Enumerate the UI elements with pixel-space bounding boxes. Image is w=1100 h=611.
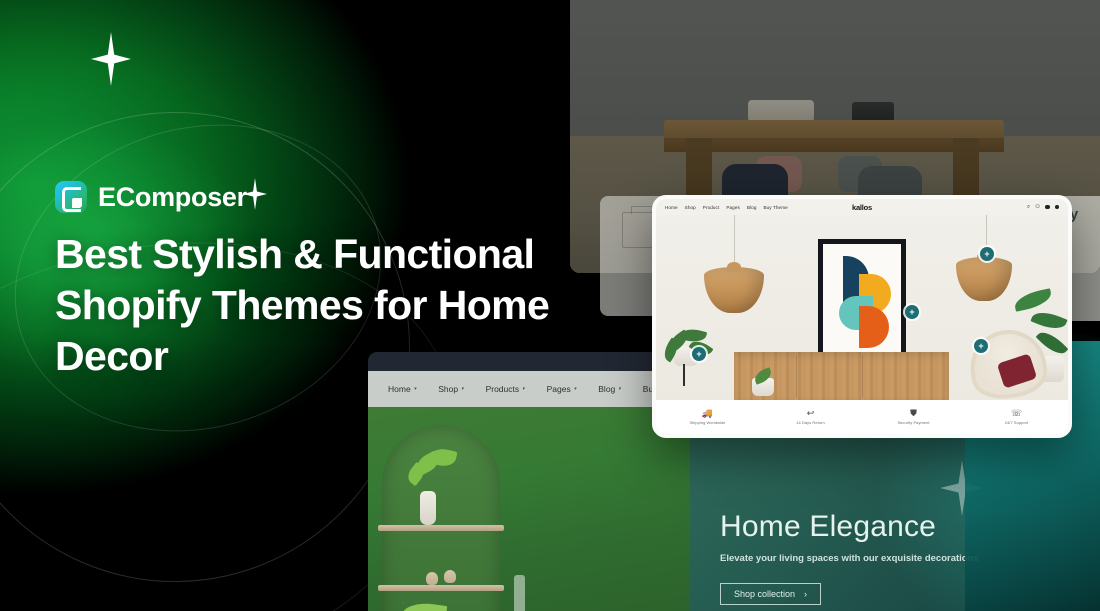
kallos-nav: Home Shop Product Pages Blog Buy Theme — [665, 205, 788, 210]
brand-lockup: EComposer — [55, 181, 247, 213]
nav-item-shop[interactable]: Shop — [685, 205, 696, 210]
cart-icon[interactable] — [1055, 205, 1060, 210]
ecomposer-logo-icon — [55, 181, 87, 213]
shield-icon: ⛊ — [910, 409, 917, 418]
shelf-lower — [378, 585, 504, 591]
brand-name: EComposer — [98, 182, 247, 213]
truck-icon: 🚚 — [702, 409, 713, 418]
plant-stand — [683, 364, 685, 386]
feature-shipping: 🚚 Shipping Worldwide — [656, 409, 759, 425]
nav-item-product[interactable]: Product — [703, 205, 720, 210]
nav-label: Products — [486, 384, 520, 394]
chevron-down-icon: ▾ — [461, 386, 464, 392]
art-canvas — [823, 244, 901, 352]
feature-label: 14 Days Return — [796, 420, 824, 425]
nav-label: Blog — [598, 384, 615, 394]
promo-banner: ty Pay r secur chevron-left-icon The Hom… — [0, 0, 1100, 611]
pendant-lamp-left — [704, 267, 764, 313]
feature-label: 24/7 Support — [1005, 420, 1028, 425]
hero-subtitle: Elevate your living spaces with our exqu… — [720, 553, 979, 564]
lamp-cord — [734, 215, 735, 269]
feature-returns: ↩ 14 Days Return — [759, 409, 862, 425]
hotspot-marker[interactable]: + — [905, 305, 919, 319]
return-arrow-icon: ↩ — [807, 409, 815, 418]
nav-item-home[interactable]: Home▾ — [388, 384, 416, 394]
plant-leaf — [1030, 307, 1067, 334]
wall-art-frame — [818, 239, 906, 357]
hotspot-marker[interactable]: + — [974, 339, 988, 353]
nav-item-products[interactable]: Products▾ — [486, 384, 525, 394]
feature-label: Shipping Worldwide — [689, 420, 725, 425]
kallos-feature-bar: 🚚 Shipping Worldwide ↩ 14 Days Return ⛊ … — [656, 400, 1068, 434]
nav-item-blog[interactable]: Blog▾ — [598, 384, 621, 394]
kallos-header: Home Shop Product Pages Blog Buy Theme k… — [656, 199, 1068, 215]
nav-item-pages[interactable]: Pages▾ — [547, 384, 577, 394]
nav-item-blog[interactable]: Blog — [747, 205, 757, 210]
nav-item-shop[interactable]: Shop▾ — [438, 384, 463, 394]
nav-item-home[interactable]: Home — [665, 205, 678, 210]
kallos-theme-mockup: Home Shop Product Pages Blog Buy Theme k… — [652, 195, 1072, 438]
chevron-down-icon: ▾ — [574, 386, 577, 392]
hotspot-marker[interactable]: + — [692, 347, 706, 361]
plant-leaf — [1013, 288, 1053, 312]
bird-figurine — [426, 572, 438, 585]
shelf-upper — [378, 525, 504, 531]
shop-collection-button[interactable]: Shop collection › — [720, 583, 821, 605]
feature-label: Security Payment — [897, 420, 929, 425]
feature-support: ☏ 24/7 Support — [965, 409, 1068, 425]
page-title: Best Stylish & Functional Shopify Themes… — [55, 229, 585, 381]
nav-label: Pages — [547, 384, 571, 394]
search-icon[interactable]: ⌕ — [1027, 204, 1030, 211]
button-label: Shop collection — [734, 589, 795, 599]
white-vase — [420, 491, 436, 525]
account-icon[interactable]: ⚇ — [1035, 204, 1040, 210]
chevron-down-icon: ▾ — [522, 386, 525, 392]
hotspot-marker[interactable]: + — [980, 247, 994, 261]
kallos-header-icons: ⌕ ⚇ — [1027, 204, 1059, 211]
wishlist-icon[interactable] — [1045, 205, 1050, 210]
nav-item-buy-theme[interactable]: Buy Theme — [763, 205, 787, 210]
bird-figurine — [444, 570, 456, 583]
kallos-hero-scene: + + + + — [656, 215, 1068, 400]
kallos-logo: kallos — [852, 203, 872, 212]
nav-label: Shop — [438, 384, 458, 394]
chevron-down-icon: ▾ — [414, 386, 417, 392]
sparkle-icon — [91, 32, 131, 86]
feature-security: ⛊ Security Payment — [862, 409, 965, 425]
nav-label: Home — [388, 384, 411, 394]
art-shape-orange — [859, 306, 889, 348]
chevron-down-icon: ▾ — [618, 386, 621, 392]
foreground-plant — [374, 593, 524, 611]
headset-icon: ☏ — [1011, 409, 1022, 418]
nav-item-pages[interactable]: Pages — [726, 205, 740, 210]
pendant-lamp-right — [956, 257, 1012, 301]
hero-title: Home Elegance — [720, 510, 936, 544]
chevron-right-icon: › — [804, 589, 807, 599]
